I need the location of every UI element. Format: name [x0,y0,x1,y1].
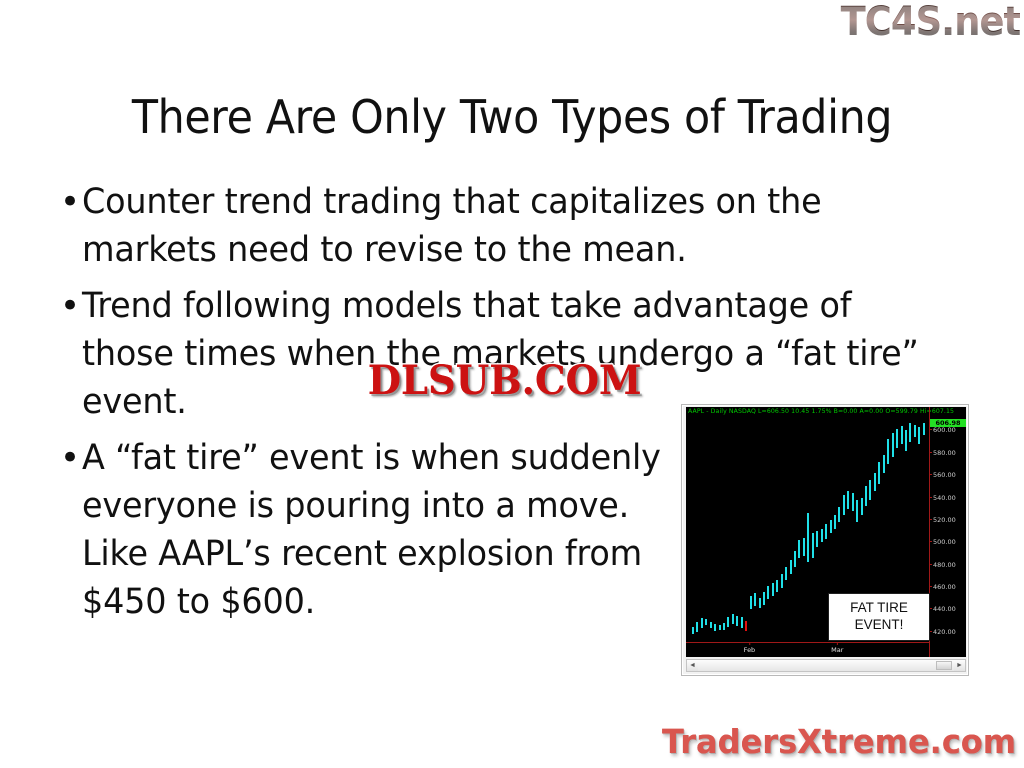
candle-bar [807,513,809,562]
candle-bar [812,533,814,558]
candle-bar [727,617,729,627]
candle-bar [861,498,863,516]
last-price-tag: 606.98 [930,419,966,427]
annotation-line-2: EVENT! [855,617,904,634]
candle-bar [772,583,774,596]
candle-bar [736,616,738,626]
candle-bar [732,614,734,624]
candle-bar [759,598,761,608]
candle-bar [723,623,725,630]
candle-bar [923,423,925,435]
price-tick-label: 420.00 [933,628,956,636]
candle-bar [776,580,778,591]
price-axis: 600.00580.00560.00540.00520.00500.00480.… [929,407,966,657]
candle-bar [785,567,787,580]
candle-bar [896,429,898,448]
candle-bar [856,500,858,522]
candle-bar [719,625,721,630]
candle-bar [714,624,716,631]
page-title: There Are Only Two Types of Trading [36,93,988,141]
price-tick-label: 460.00 [933,583,956,591]
price-tick-label: 600.00 [933,426,956,434]
price-tick-label: 500.00 [933,538,956,546]
price-tick-label: 520.00 [933,516,956,524]
tc4s-brand-watermark: TC4S.net [840,2,1020,42]
time-axis: FebMar [686,642,930,657]
candle-bar [887,439,889,464]
candle-bar [821,529,823,542]
tradersxtreme-fill: TradersXtreme.com [662,725,1016,758]
candle-bar [869,480,871,500]
scrollbar-thumb[interactable] [936,661,952,670]
candle-bar [905,430,907,450]
price-tick-label: 560.00 [933,471,956,479]
candle-bar [750,596,752,609]
bullet-marker-icon: • [48,282,82,330]
candle-bar [909,423,911,442]
candle-bar [763,592,765,605]
candle-bar [781,574,783,589]
candle-bar [914,425,916,437]
fat-tire-annotation: FAT TIRE EVENT! [828,593,930,641]
candle-bar [705,619,707,625]
candle-bar [865,486,867,506]
candle-bar [918,427,920,444]
bullet-marker-icon: • [48,434,82,482]
list-item: • Counter trend trading that capitalizes… [48,178,983,274]
candle-bar [692,627,694,634]
candle-bar [852,493,854,511]
time-tick-label: Mar [831,646,843,654]
chart-window[interactable]: AAPL - Daily NASDAQ L=606.50 10.45 1.75%… [681,404,969,676]
candle-bar [803,538,805,556]
candle-bar [696,622,698,632]
candle-bar [790,560,792,573]
candle-bar [754,593,756,606]
candle-bar [767,586,769,599]
price-tick-label: 580.00 [933,449,956,457]
candle-bar [838,507,840,523]
candle-bar [816,531,818,547]
candlestick-chart[interactable]: AAPL - Daily NASDAQ L=606.50 10.45 1.75%… [686,407,966,657]
bullet-text: A “fat tire” event is when suddenly ever… [82,434,674,626]
dlsub-watermark-fill: DLSUB.COM [368,361,642,401]
scroll-right-arrow-icon[interactable]: ► [954,660,965,671]
candle-bar [794,551,796,567]
candle-bar [883,455,885,473]
candle-bar [901,426,903,444]
candle-bar [798,540,800,558]
price-tick-label: 440.00 [933,605,956,613]
candle-bar [825,524,827,539]
time-tick-label: Feb [744,646,756,654]
tradersxtreme-brand-watermark: TradersXtreme.com TradersXtreme.com [662,725,1016,758]
candle-bar [834,515,836,528]
price-tick-label: 540.00 [933,494,956,502]
candle-bar [878,462,880,484]
bullet-marker-icon: • [48,178,82,226]
scroll-left-arrow-icon[interactable]: ◄ [687,660,698,671]
candle-bar [745,621,747,631]
dlsub-watermark: DLSUB.COM DLSUB.COM [368,361,642,401]
candle-bar [710,622,712,628]
candle-bar [830,520,832,533]
candle-bar [741,617,743,628]
candle-bar [874,473,876,491]
candle-bar [847,491,849,509]
chart-header-quote: AAPL - Daily NASDAQ L=606.50 10.45 1.75%… [688,408,954,415]
candle-bar [892,433,894,458]
bullet-text: Counter trend trading that capitalizes o… [82,178,942,274]
candle-bar [843,495,845,515]
annotation-line-1: FAT TIRE [850,600,908,617]
horizontal-scrollbar[interactable]: ◄ ► [686,659,966,672]
candle-bar [701,618,703,628]
price-tick-label: 480.00 [933,561,956,569]
